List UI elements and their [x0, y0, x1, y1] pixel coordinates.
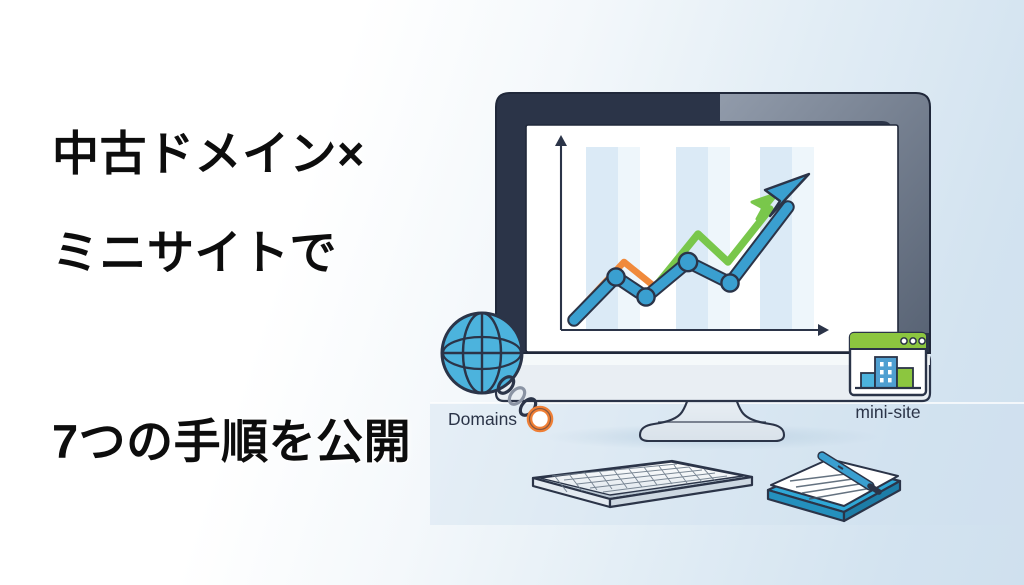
- hero-illustration: Domains: [430, 85, 1024, 525]
- headline-line-3: 7つの手順を公開: [52, 418, 411, 465]
- badge-mini-site-label: mini-site: [855, 402, 920, 422]
- headline-line-2: ミニサイトで: [52, 229, 482, 276]
- illustration-svg: Domains: [430, 85, 1024, 525]
- badge-domains-label: Domains: [448, 409, 517, 429]
- browser-window-building-icon: [850, 333, 926, 395]
- hero-banner: 中古ドメイン× ミニサイトで 7つの手順を公開: [0, 0, 1024, 585]
- headline-block: 中古ドメイン× ミニサイトで 7つの手順を公開: [52, 130, 482, 276]
- growth-chart: [555, 135, 829, 336]
- headline-line-1: 中古ドメイン×: [52, 130, 482, 177]
- badge-mini-site: mini-site: [850, 333, 926, 422]
